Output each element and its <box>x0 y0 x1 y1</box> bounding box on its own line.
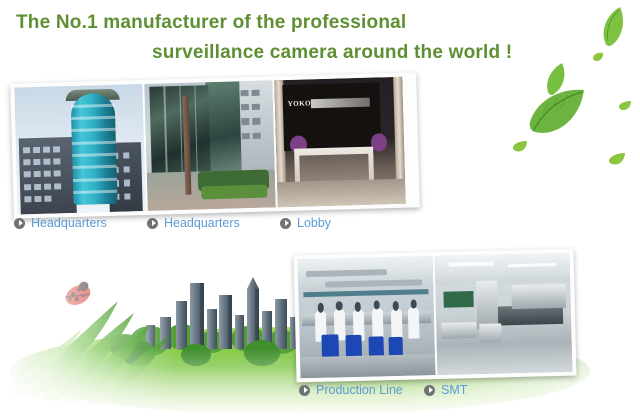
lobby-floor <box>277 178 406 207</box>
leaf-tiny-right-icon <box>608 152 626 166</box>
leaf-top-right-large-icon <box>600 6 626 48</box>
overhead-shelf <box>304 289 428 297</box>
headline-line-1: The No.1 manufacturer of the professiona… <box>16 12 406 34</box>
photo-smt[interactable] <box>435 253 573 375</box>
manufacturing-photo-strip <box>293 249 576 383</box>
lobby-brand-subtext <box>311 98 370 109</box>
smt-ceiling <box>435 253 571 285</box>
reception-desk-panel <box>299 154 369 181</box>
adjacent-tower <box>236 80 274 170</box>
caption-label: Lobby <box>297 216 331 230</box>
worker <box>372 308 384 339</box>
feeder-cart <box>479 323 501 343</box>
photo-lobby[interactable]: YOKO <box>274 77 405 208</box>
building-left-wing <box>18 137 76 215</box>
factory-floor <box>300 354 435 379</box>
caption-production-line[interactable]: Production Line <box>299 383 424 397</box>
play-circle-icon <box>14 218 25 229</box>
glass-cylinder-tower <box>71 92 118 205</box>
page-root: The No.1 manufacturer of the professiona… <box>0 0 640 418</box>
worker <box>391 309 403 340</box>
lawn <box>201 185 268 200</box>
caption-headquarters-1[interactable]: Headquarters <box>14 216 147 230</box>
parts-bin <box>389 337 403 356</box>
caption-label: Headquarters <box>31 216 107 230</box>
play-circle-icon <box>280 218 291 229</box>
leaf-mid-right-icon <box>545 62 567 96</box>
caption-label: SMT <box>441 383 467 397</box>
smt-machine-body <box>511 284 566 309</box>
work-table <box>442 322 477 340</box>
facility-captions: Headquarters Headquarters Lobby <box>14 216 331 230</box>
green-glass-facade <box>206 81 242 173</box>
leaf-bottom-right-large-icon <box>528 88 586 138</box>
caption-smt[interactable]: SMT <box>424 383 467 397</box>
leaf-top-right-small-icon <box>592 52 604 62</box>
photo-headquarters-entrance[interactable] <box>144 80 275 211</box>
lobby-brand-logo: YOKO <box>288 100 312 109</box>
leaf-bottom-small-icon <box>512 140 528 153</box>
caption-headquarters-2[interactable]: Headquarters <box>147 216 280 230</box>
smt-floor <box>437 341 573 375</box>
play-circle-icon <box>424 385 435 396</box>
play-circle-icon <box>299 385 310 396</box>
green-panel <box>444 291 474 308</box>
facility-photo-strip: YOKO <box>10 72 420 218</box>
smt-machine-tower <box>476 281 499 329</box>
caption-label: Production Line <box>316 383 403 397</box>
play-circle-icon <box>147 218 158 229</box>
manufacturing-captions: Production Line SMT <box>299 383 467 397</box>
worker <box>408 308 420 339</box>
photo-production-line[interactable] <box>298 256 436 378</box>
caption-label: Headquarters <box>164 216 240 230</box>
photo-headquarters-tower[interactable] <box>14 84 145 215</box>
leaf-dot-right-icon <box>618 100 632 112</box>
caption-lobby[interactable]: Lobby <box>280 216 331 230</box>
headline-line-2: surveillance camera around the world ! <box>152 42 512 64</box>
